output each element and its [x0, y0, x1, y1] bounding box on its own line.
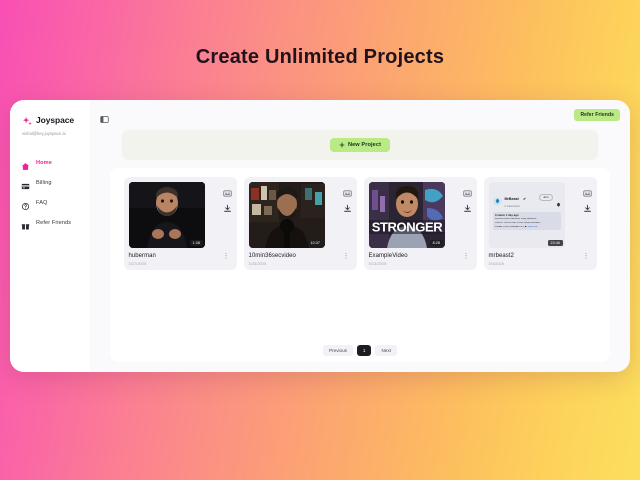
captions-icon[interactable]: [583, 185, 592, 194]
new-project-label: New Project: [348, 142, 381, 148]
new-project-button[interactable]: New Project: [330, 138, 390, 152]
card-date: 3/13/2025: [369, 262, 408, 266]
card-actions: [343, 182, 352, 248]
sidebar-item-label-faq: FAQ: [36, 200, 48, 206]
kebab-menu-icon[interactable]: ⋮: [581, 253, 592, 260]
pagination-previous-button[interactable]: Previous: [323, 345, 353, 356]
hero-section: Create Unlimited Projects: [0, 0, 640, 69]
card-body: 1:38: [129, 182, 232, 248]
app-window: Joyspace vishal@hey.joyspace.ai Home: [10, 100, 630, 372]
card-title: mrbeast2: [489, 253, 514, 260]
sidebar-item-home[interactable]: Home: [18, 158, 82, 167]
download-icon[interactable]: [343, 200, 352, 209]
card-title: 10min36secvideo: [249, 253, 296, 260]
comment-line-1: Bronze And Platinum Play Buttons!: [495, 218, 558, 221]
download-icon[interactable]: [583, 200, 592, 209]
card-date: 3/4/2025: [489, 262, 514, 266]
card-footer: huberman 3/27/2025 ⋮: [129, 253, 232, 266]
page-title: Create Unlimited Projects: [0, 46, 640, 69]
captions-icon[interactable]: [343, 185, 352, 194]
duration-badge: 23:46: [548, 240, 563, 246]
pagination: Previous 1 Next: [118, 339, 602, 356]
card-meta: ExampleVideo 3/13/2025: [369, 253, 408, 266]
card-date: 3/25/2025: [249, 262, 296, 266]
card-body: STRONGER 8:28: [369, 182, 472, 248]
content-topbar: Refer Friends: [100, 108, 620, 122]
thumbnail[interactable]: 1:38: [129, 182, 205, 248]
thumbnail-image-stronger: STRONGER: [369, 182, 445, 248]
question-gear-icon: [21, 198, 30, 207]
channel-meta: MrBeast ✔ 0 subscribers: [505, 187, 527, 209]
thumbnail-image-podcast: [249, 182, 325, 248]
refer-friends-button[interactable]: Refer Friends: [574, 109, 620, 121]
sidebar-item-label-billing: Billing: [36, 180, 52, 186]
card-footer: mrbeast2 3/4/2025 ⋮: [489, 253, 592, 266]
thumbnail[interactable]: 10:37: [249, 182, 325, 248]
main-content: Refer Friends New Project: [90, 100, 630, 372]
card-actions: [463, 182, 472, 248]
card-body: MrBeast ✔ 0 subscribers Join: [489, 182, 592, 248]
project-card-list: 1:38: [118, 177, 602, 270]
comment-link[interactable]: http://bit: [528, 226, 538, 228]
projects-panel: 1:38: [110, 168, 610, 362]
card-title: ExampleVideo: [369, 253, 408, 260]
channel-name: MrBeast: [505, 197, 519, 201]
duration-badge: 8:28: [430, 240, 442, 246]
channel-avatar: [493, 193, 502, 202]
gift-icon: [21, 218, 30, 227]
sidebar-nav: Home Billing: [18, 158, 82, 227]
captions-icon[interactable]: [223, 185, 232, 194]
comment-line-3-text: FREE COD GAMEPLAY ▶: [495, 226, 527, 228]
card-date: 3/27/2025: [129, 262, 156, 266]
pagination-page-1[interactable]: 1: [357, 345, 372, 356]
svg-text:STRONGER: STRONGER: [371, 220, 442, 235]
card-actions: [223, 182, 232, 248]
sidebar-item-billing[interactable]: Billing: [18, 178, 82, 187]
kebab-menu-icon[interactable]: ⋮: [341, 253, 352, 260]
project-card[interactable]: MrBeast ✔ 0 subscribers Join: [484, 177, 597, 270]
duration-badge: 1:38: [190, 240, 202, 246]
card-footer: ExampleVideo 3/13/2025 ⋮: [369, 253, 472, 266]
sidebar-item-label-home: Home: [36, 160, 52, 166]
project-card[interactable]: 10:37: [244, 177, 357, 270]
card-body: 10:37: [249, 182, 352, 248]
pagination-next-button[interactable]: Next: [375, 345, 396, 356]
join-button[interactable]: Join: [539, 194, 553, 201]
pinned-comment: 3 views 1 day ago Bronze And Platinum Pl…: [493, 212, 561, 231]
sidebar-collapse-icon[interactable]: [100, 111, 109, 120]
download-icon[interactable]: [463, 200, 472, 209]
plus-icon: [339, 142, 345, 148]
project-card[interactable]: 1:38: [124, 177, 237, 270]
card-title: huberman: [129, 253, 156, 260]
captions-icon[interactable]: [463, 185, 472, 194]
kebab-menu-icon[interactable]: ⋮: [221, 253, 232, 260]
project-card[interactable]: STRONGER 8:28: [364, 177, 477, 270]
duration-badge: 10:37: [308, 240, 323, 246]
home-icon: [21, 158, 30, 167]
user-email: vishal@hey.joyspace.ai: [18, 131, 82, 136]
channel-header: MrBeast ✔ 0 subscribers Join: [493, 187, 561, 209]
card-actions: [583, 182, 592, 248]
sidebar-item-label-refer-friends: Refer Friends: [36, 220, 71, 226]
sidebar-item-faq[interactable]: FAQ: [18, 198, 82, 207]
download-icon[interactable]: [223, 200, 232, 209]
verified-badge-icon: ✔: [523, 197, 526, 201]
card-meta: 10min36secvideo 3/25/2025: [249, 253, 296, 266]
credit-card-icon: [21, 178, 30, 187]
brand: Joyspace: [18, 114, 82, 125]
brand-name: Joyspace: [36, 115, 74, 125]
thumbnail-image-youtube-comment: MrBeast ✔ 0 subscribers Join: [489, 182, 565, 248]
kebab-menu-icon[interactable]: ⋮: [461, 253, 472, 260]
sidebar: Joyspace vishal@hey.joyspace.ai Home: [10, 100, 90, 372]
thumbnail[interactable]: STRONGER 8:28: [369, 182, 445, 248]
sidebar-item-refer-friends[interactable]: Refer Friends: [18, 218, 82, 227]
thumbnail-image-huberman: [129, 182, 205, 248]
card-footer: 10min36secvideo 3/25/2025 ⋮: [249, 253, 352, 266]
sparkle-icon: [22, 114, 33, 125]
card-meta: huberman 3/27/2025: [129, 253, 156, 266]
bell-icon: [556, 195, 561, 201]
comment-line-2: CLICK THIS LINK FOR PRE-ORDER:: [495, 222, 558, 225]
card-meta: mrbeast2 3/4/2025: [489, 253, 514, 266]
subscriber-count: 0 subscribers: [505, 206, 527, 209]
new-project-panel: New Project: [122, 130, 598, 160]
comment-line-3: FREE COD GAMEPLAY ▶ http://bit: [495, 226, 558, 229]
comment-meta: 3 views 1 day ago: [495, 214, 558, 217]
thumbnail[interactable]: MrBeast ✔ 0 subscribers Join: [489, 182, 565, 248]
